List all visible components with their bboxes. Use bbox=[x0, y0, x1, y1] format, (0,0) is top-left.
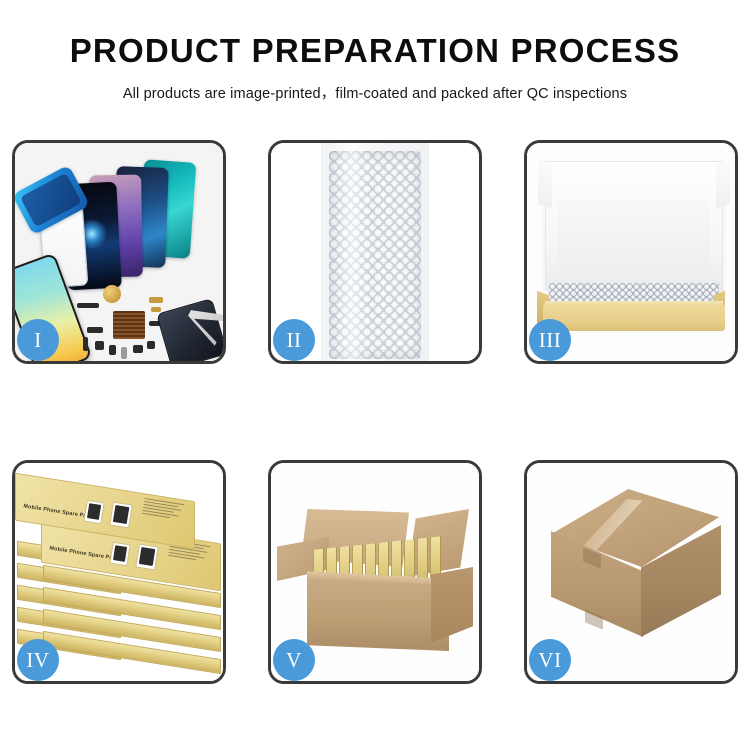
part-gold-clip-icon bbox=[151, 307, 161, 312]
step-badge-3: III bbox=[529, 319, 571, 361]
page-subtitle: All products are image-printed，film-coat… bbox=[0, 82, 750, 103]
labelled-box-lid: Mobile Phone Spare Parts bbox=[15, 487, 195, 535]
part-camera-icon bbox=[133, 345, 143, 353]
box-lid-thumbnail bbox=[83, 500, 104, 525]
step-badge-6: VI bbox=[529, 639, 571, 681]
box-interior bbox=[558, 200, 710, 276]
carton-front-face bbox=[307, 579, 449, 651]
step-badge-5: V bbox=[273, 639, 315, 681]
process-steps-grid: I II III bbox=[12, 140, 738, 684]
header: PRODUCT PREPARATION PROCESS All products… bbox=[0, 0, 750, 103]
part-pin-icon bbox=[83, 337, 88, 351]
step-badge-1: I bbox=[17, 319, 59, 361]
phone-backplate-icon bbox=[156, 298, 223, 361]
white-box-lid-icon bbox=[545, 161, 723, 291]
box-lid-thumbnail bbox=[109, 502, 133, 529]
spare-parts-group bbox=[77, 283, 223, 361]
step-panel-1: I bbox=[12, 140, 226, 364]
circuit-board-icon bbox=[113, 311, 145, 339]
box-lid-thumbnail bbox=[135, 544, 159, 571]
step-panel-4: Mobile Phone Spare Parts Mobile Phone Sp… bbox=[12, 460, 226, 684]
part-button-icon bbox=[121, 347, 127, 359]
step-badge-4: IV bbox=[17, 639, 59, 681]
box-lid-thumbnail bbox=[109, 542, 130, 567]
page-title: PRODUCT PREPARATION PROCESS bbox=[0, 34, 750, 69]
plastic-sheen bbox=[335, 143, 369, 361]
part-gold-flex-icon bbox=[149, 297, 163, 303]
step-panel-5: V bbox=[268, 460, 482, 684]
step-badge-2: II bbox=[273, 319, 315, 361]
part-connector-icon bbox=[87, 327, 103, 333]
part-module-icon bbox=[147, 341, 155, 349]
part-strip-icon bbox=[77, 303, 99, 308]
kraft-box-front-icon bbox=[543, 305, 725, 331]
step-panel-2: II bbox=[268, 140, 482, 364]
copper-coil-icon bbox=[103, 285, 121, 303]
step-panel-6: VI bbox=[524, 460, 738, 684]
step-panel-3: III bbox=[524, 140, 738, 364]
part-speaker-icon bbox=[109, 345, 116, 355]
product-preparation-infographic: PRODUCT PREPARATION PROCESS All products… bbox=[0, 0, 750, 750]
part-chip-icon bbox=[95, 341, 104, 350]
